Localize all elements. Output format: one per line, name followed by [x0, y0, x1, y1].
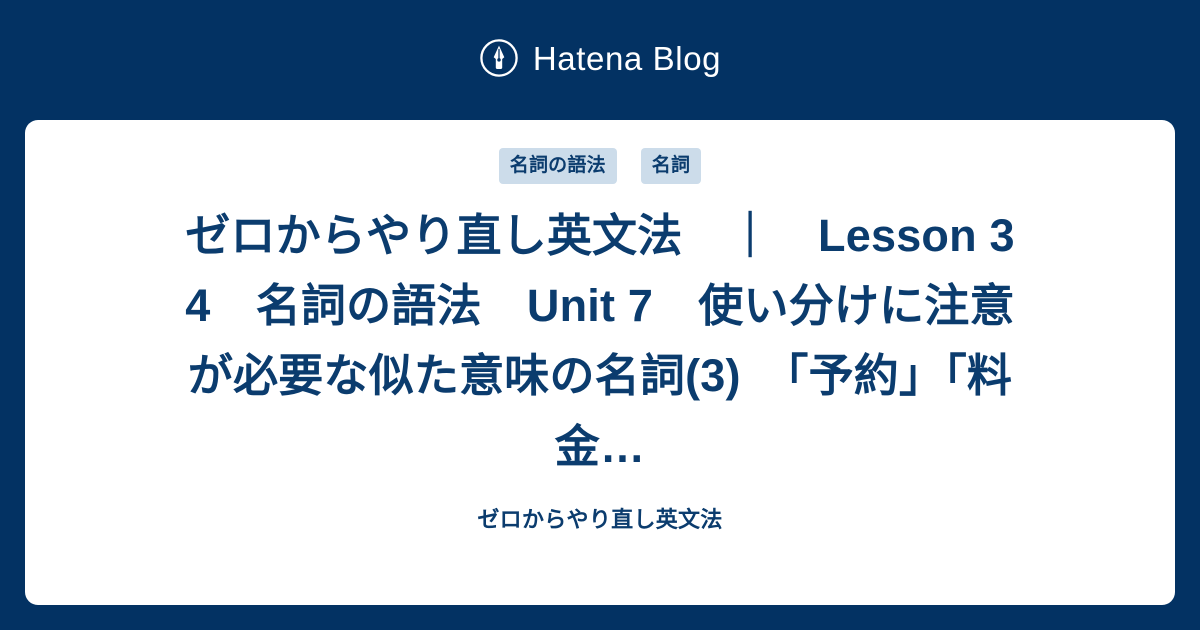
- hatena-blog-header: Hatena Blog: [0, 0, 1200, 120]
- tag-list: 名詞の語法 名詞: [499, 149, 701, 183]
- blog-name[interactable]: ゼロからやり直し英文法: [25, 507, 1175, 533]
- entry-title[interactable]: ゼロからやり直し英文法 ｜ Lesson 34 名詞の語法 Unit 7 使い分…: [177, 201, 1023, 482]
- entry-card: 名詞の語法 名詞 ゼロからやり直し英文法 ｜ Lesson 34 名詞の語法 U…: [25, 120, 1175, 605]
- tag-item[interactable]: 名詞の語法: [499, 148, 617, 184]
- hatena-blog-logo-lockup[interactable]: Hatena Blog: [479, 38, 721, 78]
- hatena-pen-nib-icon: [479, 38, 519, 78]
- og-image-canvas: Hatena Blog 名詞の語法 名詞 ゼロからやり直し英文法 ｜ Lesso…: [0, 0, 1200, 630]
- tag-item[interactable]: 名詞: [641, 148, 701, 184]
- hatena-blog-wordmark: Hatena Blog: [533, 42, 721, 75]
